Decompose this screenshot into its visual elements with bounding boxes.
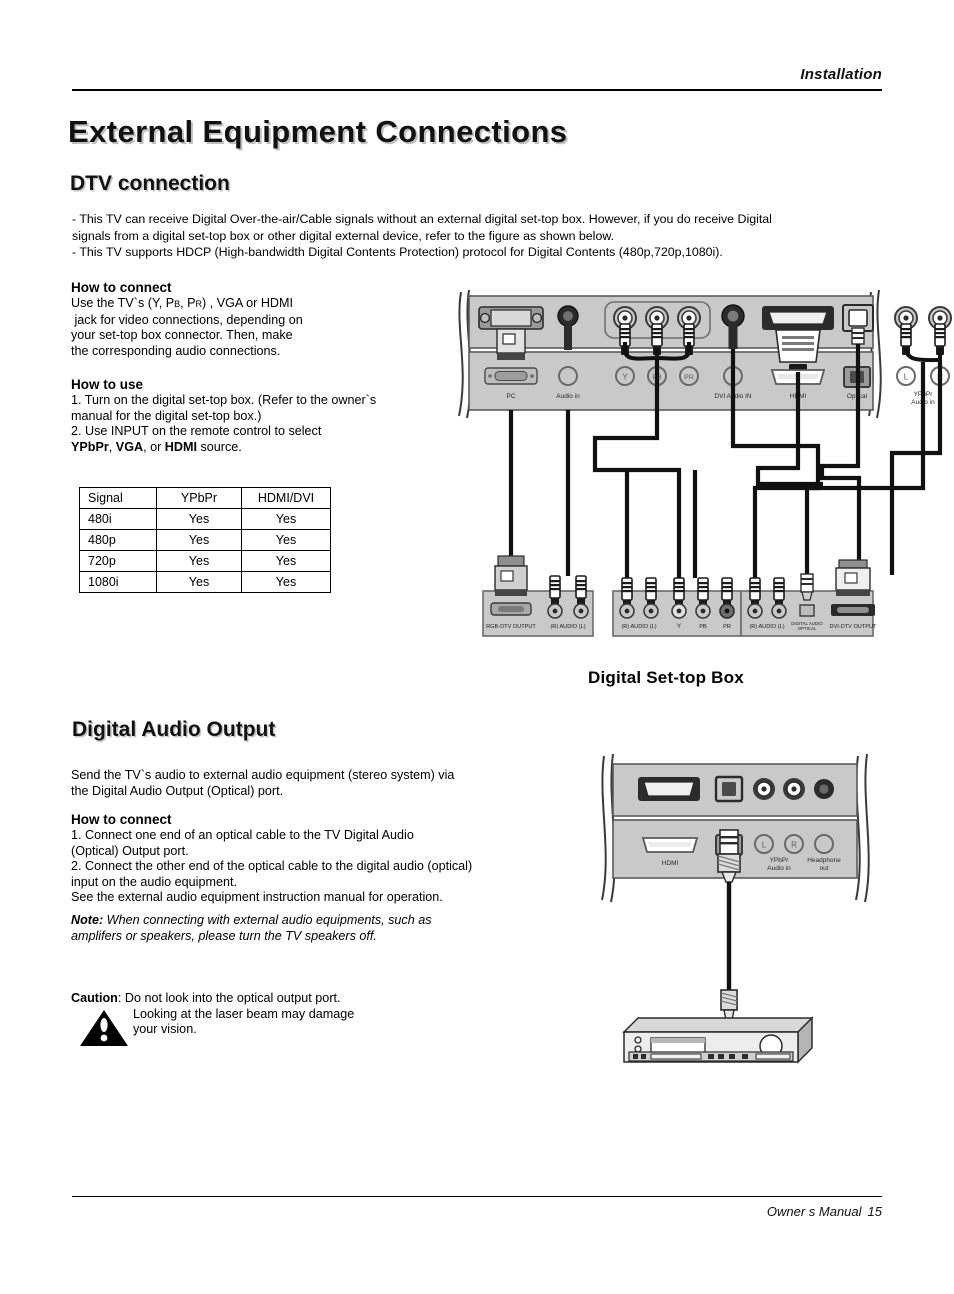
ypbpr-audio-r-plug <box>929 307 951 355</box>
panel-label-pc: PC <box>506 393 515 400</box>
cell-ypbpr: Yes <box>157 572 242 593</box>
how-to-use-heading: How to use <box>71 377 451 392</box>
dao-note-line-1: Note: When connecting with external audi… <box>71 913 551 929</box>
svg-text:R: R <box>791 841 797 850</box>
settop1-audio-plug-r <box>550 576 560 607</box>
rgb-dtv-output-socket <box>491 603 531 615</box>
caution-lead: Caution <box>71 991 118 1005</box>
dao-panel-label-hdmi: HDMI <box>662 860 679 867</box>
settop3-audio-socket-r <box>748 604 762 618</box>
footer-text: Owner s Manual15 <box>72 1204 882 1219</box>
sep-2: , or <box>143 440 165 454</box>
settop2-label-pb: PB <box>699 624 707 630</box>
caution-line-3: your vision. <box>133 1022 491 1038</box>
settop3-dvi-plug <box>836 560 870 596</box>
digital-audio-output-diagram: HDMI Optical L R YPbPr Audio in Headphon… <box>596 752 886 1072</box>
cell-hdmi-dvi: Yes <box>242 509 331 530</box>
note-lead: Note: <box>71 913 103 927</box>
dao-how-to-connect-body: 1. Connect one end of an optical cable t… <box>71 828 551 906</box>
svg-text:Y: Y <box>622 373 628 382</box>
htc-text-e: ) , VGA or HDMI <box>202 296 293 310</box>
dao-intro-line-1: Send the TV`s audio to external audio eq… <box>71 768 541 784</box>
page-header: Installation <box>72 66 882 91</box>
dtv-intro-line-2: signals from a digital set-top box or ot… <box>72 228 882 245</box>
caution-block: Caution: Do not look into the optical ou… <box>71 991 491 1038</box>
cell-signal: 480p <box>80 530 157 551</box>
caution-sep: : <box>118 991 125 1005</box>
audio-r-connector-dao <box>783 778 805 800</box>
dao-panel-label-audio-in: Audio in <box>767 865 791 872</box>
audio-l-connector-dao <box>753 778 775 800</box>
caution-text-1: Do not look into the optical output port… <box>125 991 341 1005</box>
dao-how-to-connect-heading: How to connect <box>71 812 551 827</box>
dao-panel-label-headphone: Headphone <box>807 857 841 864</box>
column-header-ypbpr: YPbPr <box>157 488 242 509</box>
section-heading-digital-audio-output: Digital Audio Output <box>72 718 275 742</box>
how-to-connect-line-1: Use the TV`s (Y, PB, PR) , VGA or HDMI <box>71 296 441 313</box>
htc-text-c: , P <box>180 296 195 310</box>
dao-panel-label-out: out <box>819 865 828 872</box>
table-row: 1080i Yes Yes <box>80 572 331 593</box>
dao-note-line-2: amplifers or speakers, please turn the T… <box>71 929 551 945</box>
settop3-label-dvi-out: DVI-DTV OUTPUT <box>830 624 878 630</box>
figure-caption-digital-settop-box: Digital Set-top Box <box>588 668 744 688</box>
headphone-connector-dao <box>814 779 834 799</box>
cell-hdmi-dvi: Yes <box>242 572 331 593</box>
settop2-label-y: Y <box>677 624 681 630</box>
note-text-1: When connecting with external audio equi… <box>103 913 431 927</box>
settop2-socket-pr <box>720 604 734 618</box>
how-to-connect-block-dtv: How to connect Use the TV`s (Y, PB, PR) … <box>71 280 441 359</box>
cell-signal: 480i <box>80 509 157 530</box>
source-tail: source. <box>197 440 242 454</box>
settop3-dvi-socket <box>831 604 875 616</box>
ypbpr-audio-l-plug <box>895 307 917 355</box>
page-number: 15 <box>862 1204 882 1219</box>
settop1-audio-socket-l <box>574 604 588 618</box>
htc-text-a: Use the TV`s (Y, P <box>71 296 174 310</box>
dao-note: Note: When connecting with external audi… <box>71 913 551 944</box>
footer-divider <box>72 1196 882 1197</box>
caution-remaining-lines: Looking at the laser beam may damage you… <box>133 1007 491 1038</box>
dao-intro-line-2: the Digital Audio Output (Optical) port. <box>71 784 541 800</box>
caution-line-1: Caution: Do not look into the optical ou… <box>71 991 491 1007</box>
how-to-use-body: 1. Turn on the digital set-top box. (Ref… <box>71 393 451 455</box>
how-to-use-line-1: 1. Turn on the digital set-top box. (Ref… <box>71 393 451 409</box>
tv-back-panel <box>459 290 954 418</box>
settop1-label-rgb-out: RGB-DTV OUTPUT <box>486 624 536 630</box>
settop3-optical-plug <box>801 574 813 600</box>
settop2-label-pr: PR <box>723 624 731 630</box>
dao-line-2: (Optical) Output port. <box>71 844 551 860</box>
dao-line-1: 1. Connect one end of an optical cable t… <box>71 828 551 844</box>
settop3-audio-socket-l <box>772 604 786 618</box>
cell-signal: 1080i <box>80 572 157 593</box>
signal-support-table: Signal YPbPr HDMI/DVI 480i Yes Yes 480p … <box>79 487 331 593</box>
manual-label: Owner s Manual <box>767 1204 862 1219</box>
settop3-label-audio: (R) AUDIO (L) <box>749 624 784 630</box>
column-header-hdmi-dvi: HDMI/DVI <box>242 488 331 509</box>
cable-audio-lr-loop <box>906 348 940 360</box>
pc-socket <box>485 368 537 384</box>
settop1-label-audio: (R) AUDIO (L) <box>550 624 585 630</box>
settop3-optical-socket <box>800 605 814 616</box>
source-vga: VGA <box>116 440 143 454</box>
dao-intro-paragraph: Send the TV`s audio to external audio eq… <box>71 768 541 799</box>
vga-plug-bottom <box>495 556 527 596</box>
settop-box-panel-1: RGB-DTV OUTPUT (R) AUDIO (L) <box>483 556 593 636</box>
dao-line-3: 2. Connect the other end of the optical … <box>71 859 551 875</box>
settop2-socket-pb <box>696 604 710 618</box>
dtv-intro-line-3: - This TV supports HDCP (High-bandwidth … <box>72 244 882 261</box>
cell-ypbpr: Yes <box>157 530 242 551</box>
how-to-connect-line-2: jack for video connections, depending on <box>71 313 441 329</box>
table-row: 480p Yes Yes <box>80 530 331 551</box>
ypbpr-audio-l-socket: L <box>897 367 915 385</box>
settop3-label-optical-2: OPTICAL <box>798 626 817 631</box>
table-row: 720p Yes Yes <box>80 551 331 572</box>
how-to-connect-block-dao: How to connect 1. Connect one end of an … <box>71 812 551 906</box>
settop2-socket-y <box>672 604 686 618</box>
column-header-signal: Signal <box>80 488 157 509</box>
settop1-audio-socket-r <box>548 604 562 618</box>
how-to-use-line-3: 2. Use INPUT on the remote control to se… <box>71 424 451 440</box>
svg-text:L: L <box>762 841 767 850</box>
cell-ypbpr: Yes <box>157 509 242 530</box>
dao-line-4: input on the audio equipment. <box>71 875 551 891</box>
settop2-audio-socket-l <box>644 604 658 618</box>
dtv-intro-paragraph: - This TV can receive Digital Over-the-a… <box>72 211 882 261</box>
settop1-audio-plug-l <box>576 576 586 607</box>
optical-connector-dao <box>716 777 742 801</box>
source-ypbpr: YPbPr <box>71 440 109 454</box>
warning-triangle-icon <box>79 1009 129 1045</box>
caution-line-2: Looking at the laser beam may damage <box>133 1007 491 1023</box>
how-to-use-block: How to use 1. Turn on the digital set-to… <box>71 377 451 455</box>
dao-line-5: See the external audio equipment instruc… <box>71 890 551 906</box>
svg-text:L: L <box>904 373 909 382</box>
audio-equipment-amplifier <box>624 1018 812 1062</box>
document-page: Installation External Equipment Connecti… <box>0 0 954 1294</box>
running-head: Installation <box>72 66 882 83</box>
sep-1: , <box>109 440 116 454</box>
how-to-connect-line-4: the corresponding audio connections. <box>71 344 441 360</box>
optical-plug-amplifier <box>721 990 737 1020</box>
settop2-audio-socket-r <box>620 604 634 618</box>
table-header-row: Signal YPbPr HDMI/DVI <box>80 488 331 509</box>
hdmi-socket-dao <box>643 838 697 852</box>
table-row: 480i Yes Yes <box>80 509 331 530</box>
dtv-intro-line-1: - This TV can receive Digital Over-the-a… <box>72 211 882 228</box>
settop-box-panel-2: (R) AUDIO (L) Y PB PR <box>613 578 741 636</box>
page-footer: Owner s Manual15 <box>72 1196 882 1219</box>
cell-hdmi-dvi: Yes <box>242 530 331 551</box>
dao-panel-label-ypbpr: YPbPr <box>770 857 790 864</box>
panel-label-audio-in: Audio in <box>556 393 580 400</box>
dtv-connection-diagram: Y PB PR <box>455 288 885 688</box>
cable-dvi-audio-2 <box>733 410 818 578</box>
hdmi-connector-dao <box>638 777 700 801</box>
how-to-use-line-2: manual for the digital set-top box.) <box>71 409 451 425</box>
how-to-connect-line-3: your set-top box connector. Then, make <box>71 328 441 344</box>
cell-ypbpr: Yes <box>157 551 242 572</box>
how-to-connect-body: Use the TV`s (Y, PB, PR) , VGA or HDMI j… <box>71 296 441 359</box>
cell-hdmi-dvi: Yes <box>242 551 331 572</box>
cell-signal: 720p <box>80 551 157 572</box>
settop2-label-audio: (R) AUDIO (L) <box>621 624 656 630</box>
page-title: External Equipment Connections <box>68 114 567 150</box>
how-to-connect-heading: How to connect <box>71 280 441 295</box>
how-to-use-line-4: YPbPr, VGA, or HDMI source. <box>71 440 451 456</box>
header-divider <box>72 89 882 91</box>
section-heading-dtv: DTV connection <box>70 172 230 196</box>
svg-text:PR: PR <box>684 375 694 382</box>
source-hdmi: HDMI <box>165 440 197 454</box>
